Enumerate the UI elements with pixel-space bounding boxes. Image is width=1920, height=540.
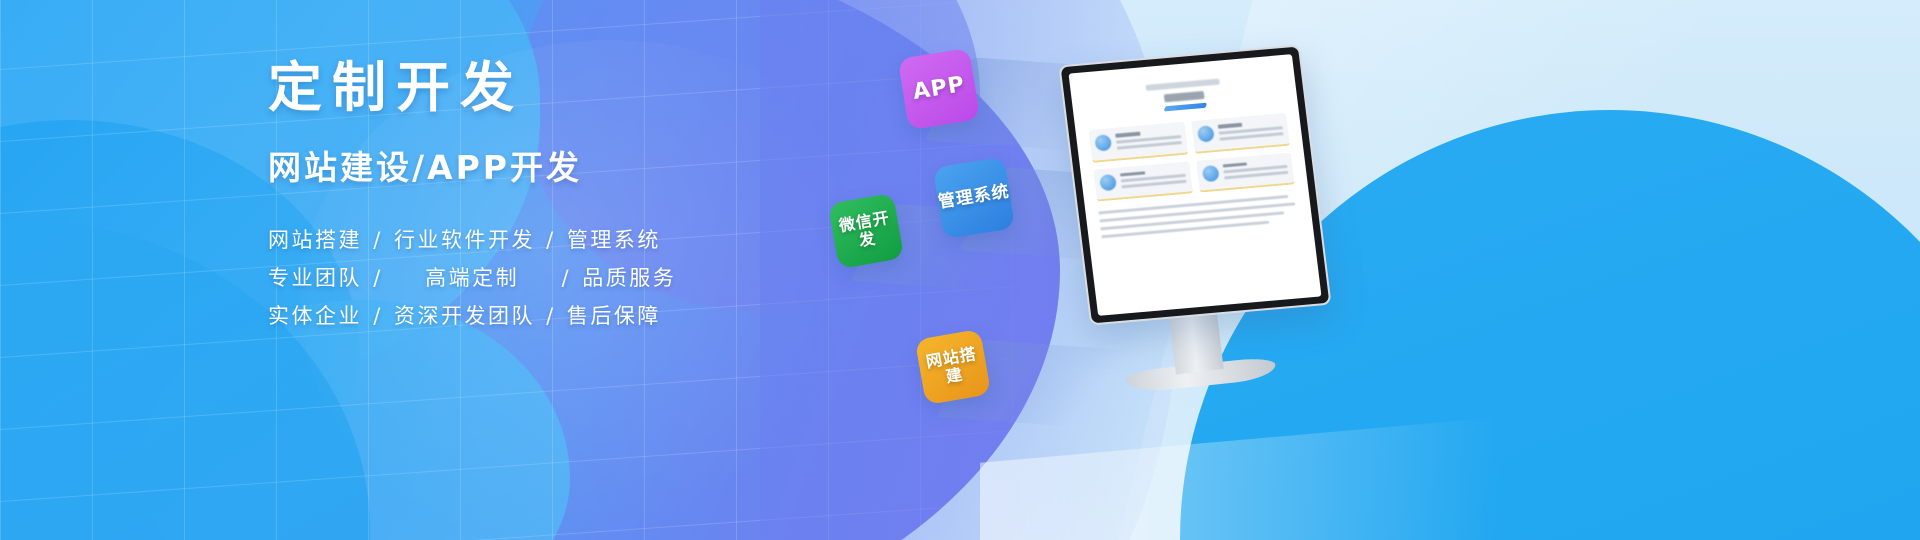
feature-item: 实体企业: [268, 304, 362, 328]
banner-subheadline: 网站建设/APP开发: [268, 141, 828, 189]
monitor-bezel: [1058, 44, 1331, 325]
feature-item: 品质服务: [582, 266, 676, 290]
service-card-label: 网站搭建: [917, 344, 988, 391]
feature-separator: /: [544, 228, 558, 252]
screen-feature-text: [1115, 128, 1182, 152]
promo-banner: 定制开发 网站建设/APP开发 网站搭建 / 行业软件开发 / 管理系统 专业团…: [0, 0, 1920, 540]
feature-separator: /: [560, 266, 574, 290]
screen-feature-grid: [1089, 113, 1295, 202]
screen-section-heading: [1164, 91, 1205, 102]
banner-feature-list: 网站搭建 / 行业软件开发 / 管理系统 专业团队 / 高端定制 / 品质服务 …: [268, 223, 828, 333]
screen-accent-underline: [1164, 103, 1207, 112]
feature-separator: /: [371, 304, 385, 328]
feature-item: 网站搭建: [268, 228, 362, 252]
feature-separator: /: [371, 228, 385, 252]
service-card-app[interactable]: APP: [898, 48, 980, 130]
screen-feature-text: [1120, 167, 1187, 191]
feature-line: 网站搭建 / 行业软件开发 / 管理系统: [268, 223, 828, 257]
feature-item: 资深开发团队: [394, 304, 535, 328]
screen-feature-card: [1191, 113, 1290, 154]
feature-item: 高端定制: [425, 266, 519, 290]
service-card-label: APP: [911, 73, 966, 106]
screen-feature-icon: [1094, 134, 1112, 151]
feature-item: 售后保障: [567, 304, 661, 328]
feature-separator: /: [371, 266, 385, 290]
feature-line: 专业团队 / 高端定制 / 品质服务: [268, 261, 828, 295]
screen-feature-card: [1093, 161, 1192, 202]
screen-feature-text: [1217, 119, 1284, 143]
monitor-illustration: [1060, 40, 1390, 440]
service-card-wechat-development[interactable]: 微信开发: [828, 193, 904, 269]
screen-feature-icon: [1196, 125, 1214, 142]
banner-text-block: 定制开发 网站建设/APP开发 网站搭建 / 行业软件开发 / 管理系统 专业团…: [268, 60, 828, 337]
feature-line: 实体企业 / 资深开发团队 / 售后保障: [268, 299, 828, 333]
screen-feature-icon: [1099, 173, 1117, 190]
banner-headline: 定制开发: [268, 60, 828, 117]
monitor-screen: [1068, 54, 1321, 316]
screen-feature-text: [1222, 158, 1289, 182]
feature-item: 专业团队: [268, 266, 362, 290]
service-card-label: 微信开发: [830, 208, 901, 255]
screen-paragraph-block: [1099, 194, 1300, 238]
screen-feature-card: [1196, 152, 1295, 193]
service-card-management-system[interactable]: 管理系统: [933, 157, 1015, 239]
feature-item: 行业软件开发: [394, 228, 535, 252]
screen-feature-icon: [1201, 165, 1219, 182]
service-card-label: 管理系统: [937, 183, 1011, 213]
feature-separator: /: [544, 304, 558, 328]
screen-site-title: [1145, 79, 1219, 91]
service-card-website-build[interactable]: 网站搭建: [915, 329, 991, 405]
screen-feature-card: [1089, 122, 1188, 163]
feature-item: 管理系统: [567, 228, 661, 252]
